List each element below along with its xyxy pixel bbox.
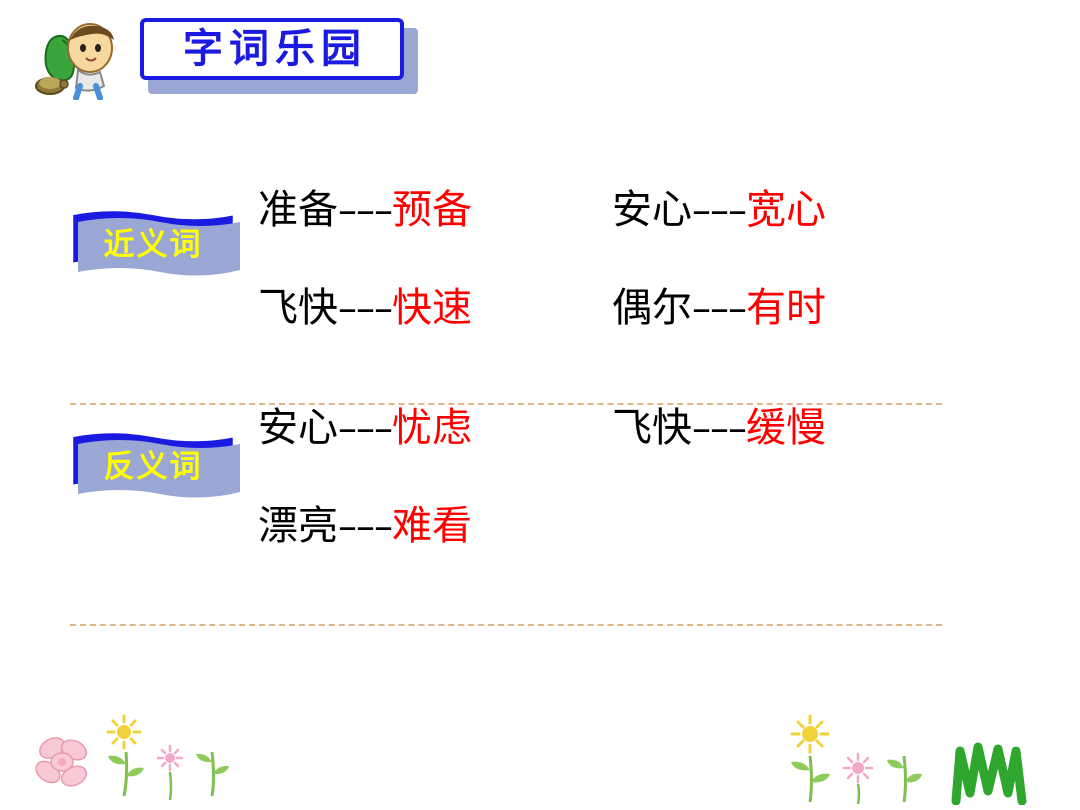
word-pair: 漂亮–––难看 [258,506,612,546]
blue-ribbon-flag-icon: 近义词 [70,208,242,280]
word-pair: 安心–––宽心 [612,190,826,230]
dash: ––– [692,406,746,450]
dash: ––– [338,286,392,330]
answer-left: 难看 [392,503,472,549]
answer-left: 忧虑 [392,405,472,451]
yellow-flower-icon [780,712,940,808]
section-synonyms: 近义词 准备–––预备 安心–––宽心 飞快–––快速 偶尔–––有时 [0,190,1080,408]
green-sprout-icon [100,712,250,806]
antonym-rows: 安心–––忧虑 飞快–––缓慢 漂亮–––难看 [258,408,1080,604]
green-grass-scribble-icon [950,735,1040,809]
word-pairs-content: 近义词 准备–––预备 安心–––宽心 飞快–––快速 偶尔–––有时 [0,190,1080,628]
answer-right: 宽心 [746,187,826,233]
answer-left: 预备 [392,187,472,233]
dash: ––– [338,504,392,548]
divider [70,624,942,626]
word-right: 安心 [612,187,692,233]
word-pair: 安心–––忧虑 [258,408,612,448]
slide-header: 字词乐园 [0,0,1080,120]
word-pair: 飞快–––快速 [258,288,612,328]
word-pair: 准备–––预备 [258,190,612,230]
word-right: 偶尔 [612,285,692,331]
word-pair: 偶尔–––有时 [612,288,826,328]
banner-box: 字词乐园 [140,18,404,80]
word-left: 安心 [258,405,338,451]
word-left: 准备 [258,187,338,233]
boy-with-backpack-icon [28,14,124,100]
dash: ––– [692,286,746,330]
table-row: 安心–––忧虑 飞快–––缓慢 [258,408,1080,506]
section-label-synonyms: 近义词 [70,208,236,274]
section-antonyms: 反义词 安心–––忧虑 飞快–––缓慢 漂亮–––难看 [0,408,1080,628]
table-row: 漂亮–––难看 [258,506,1080,604]
word-left: 飞快 [258,285,338,331]
answer-right: 缓慢 [746,405,826,451]
blue-ribbon-flag-icon: 反义词 [70,430,242,502]
section-label-antonyms: 反义词 [70,430,236,496]
word-right: 飞快 [612,405,692,451]
synonym-rows: 准备–––预备 安心–––宽心 飞快–––快速 偶尔–––有时 [258,190,1080,386]
table-row: 准备–––预备 安心–––宽心 [258,190,1080,288]
pink-flower-icon [28,730,108,804]
dash: ––– [692,188,746,232]
answer-left: 快速 [392,285,472,331]
table-row: 飞快–––快速 偶尔–––有时 [258,288,1080,386]
page-title: 字词乐园 [177,29,367,69]
word-pair: 飞快–––缓慢 [612,408,826,448]
dash: ––– [338,188,392,232]
answer-right: 有时 [746,285,826,331]
word-left: 漂亮 [258,503,338,549]
dash: ––– [338,406,392,450]
